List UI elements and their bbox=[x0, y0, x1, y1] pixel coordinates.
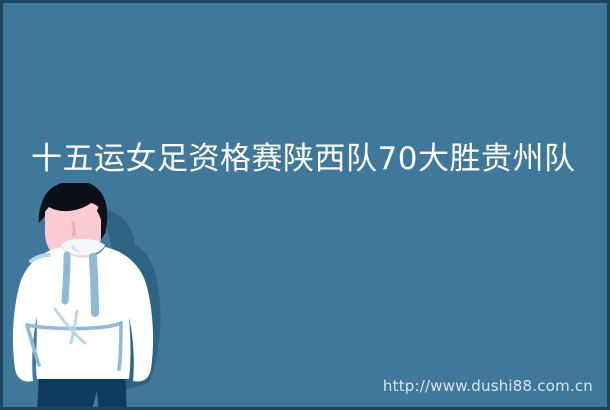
site-url-watermark: http://www.dushi88.com.cn bbox=[383, 377, 593, 395]
person-illustration bbox=[3, 183, 193, 410]
page-title: 十五运女足资格赛陕西队70大胜贵州队 bbox=[31, 139, 591, 179]
article-banner: 十五运女足资格赛陕西队70大胜贵州队 http://www.dushi88.co… bbox=[0, 0, 610, 410]
